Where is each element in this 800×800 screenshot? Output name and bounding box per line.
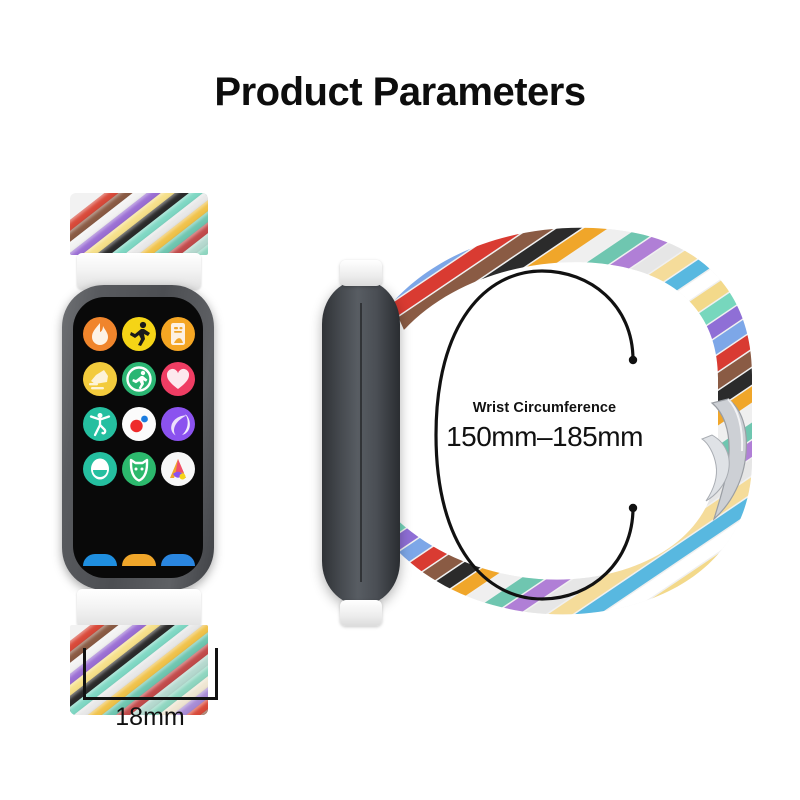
bracket-tick-right bbox=[215, 648, 218, 700]
loop-band-strand bbox=[300, 160, 617, 219]
loop-band-strand bbox=[300, 160, 601, 194]
weather-icon[interactable] bbox=[83, 452, 117, 486]
loop-band-strand bbox=[300, 160, 584, 169]
loop-band-strand bbox=[300, 160, 592, 181]
heart-rate-icon[interactable] bbox=[161, 362, 195, 396]
partial-icon-orange[interactable] bbox=[122, 554, 156, 566]
stretch-yoga-icon[interactable] bbox=[83, 407, 117, 441]
partial-icon-blue[interactable] bbox=[83, 554, 117, 566]
wrist-circumference-label: Wrist Circumference bbox=[432, 400, 657, 416]
loop-band-strand bbox=[518, 674, 800, 680]
blood-oxygen-icon[interactable] bbox=[122, 407, 156, 441]
loop-band-strand bbox=[468, 599, 800, 680]
loop-band-strand bbox=[476, 612, 800, 680]
band-connector-bottom bbox=[77, 589, 201, 627]
band-connector-top bbox=[77, 253, 201, 289]
watch-screen[interactable] bbox=[73, 297, 203, 578]
left-watch-group bbox=[55, 185, 230, 715]
running-workout-icon[interactable] bbox=[122, 317, 156, 351]
watch-case-side bbox=[322, 280, 400, 605]
watch-case bbox=[62, 285, 214, 590]
app-icon-grid bbox=[80, 317, 198, 486]
band-connector-side-bottom bbox=[340, 600, 382, 626]
band-width-bracket bbox=[83, 648, 218, 700]
calories-flame-icon[interactable] bbox=[83, 317, 117, 351]
loop-band-strand bbox=[484, 624, 800, 680]
outdoor-run-icon[interactable] bbox=[122, 362, 156, 396]
wrist-circumference-value: 150mm–185mm bbox=[432, 421, 657, 453]
mi-fitness-cat-icon[interactable] bbox=[122, 452, 156, 486]
steps-shoe-icon[interactable] bbox=[83, 362, 117, 396]
band-connector-side-top bbox=[340, 260, 382, 286]
band-clasp[interactable] bbox=[698, 395, 752, 525]
app-icon-grid-partial-row bbox=[80, 554, 198, 566]
loop-band-strand bbox=[300, 160, 609, 206]
workout-record-icon[interactable] bbox=[161, 317, 195, 351]
loop-band-strand bbox=[501, 649, 800, 680]
watch-band-top bbox=[70, 193, 208, 255]
wrist-circumference-text: Wrist Circumference 150mm–185mm bbox=[432, 400, 657, 453]
band-weave-top bbox=[70, 193, 208, 255]
alexa-assistant-icon[interactable] bbox=[161, 452, 195, 486]
loop-band-strand bbox=[510, 662, 800, 680]
page-title: Product Parameters bbox=[0, 70, 800, 115]
product-parameters-page: Product Parameters 18mm bbox=[0, 0, 800, 800]
bracket-baseline bbox=[83, 697, 218, 700]
loop-band-strand bbox=[493, 637, 800, 680]
loop-band-strand bbox=[300, 160, 626, 231]
band-width-label: 18mm bbox=[60, 703, 240, 732]
bracket-tick-left bbox=[83, 648, 86, 700]
sleep-moon-icon[interactable] bbox=[161, 407, 195, 441]
partial-icon-blue-2[interactable] bbox=[161, 554, 195, 566]
